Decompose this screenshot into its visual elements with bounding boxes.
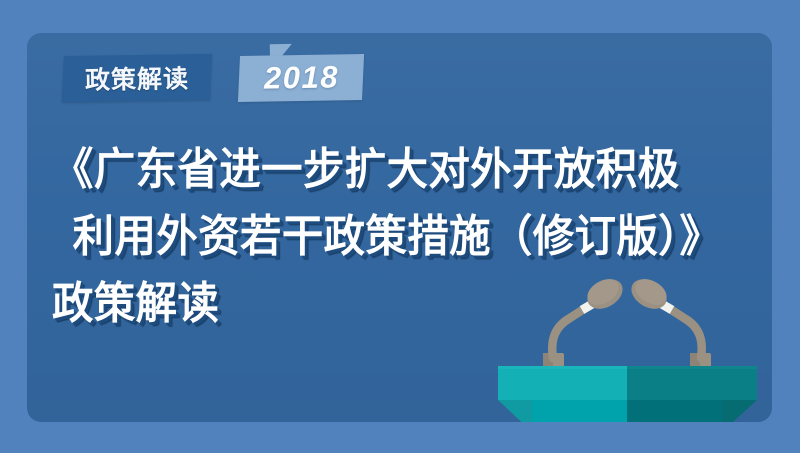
title-line-2: 利用外资若干政策措施（修订版）》: [52, 203, 701, 270]
title-line-3: 政策解读: [52, 270, 701, 337]
poster-canvas: 政策解读 2018 《广东省进一步扩大对外开放积极 利用外资若干政策措施（修订版…: [0, 0, 800, 453]
title-line-1: 《广东省进一步扩大对外开放积极: [52, 136, 701, 203]
podium-body: [498, 366, 757, 453]
badge-year-label: 2018: [263, 59, 339, 96]
poster-title: 《广东省进一步扩大对外开放积极 利用外资若干政策措施（修订版）》 政策解读: [52, 136, 742, 337]
badge-year: 2018: [238, 54, 364, 102]
badge-policy-label: 政策解读: [85, 59, 190, 97]
badge-policy-interpretation: 政策解读: [62, 54, 212, 102]
